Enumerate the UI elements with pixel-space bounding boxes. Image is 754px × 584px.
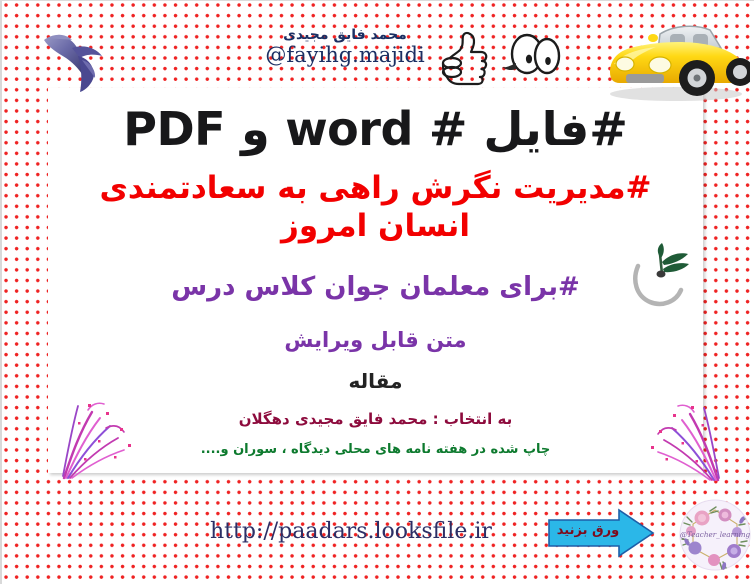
- site-url-link[interactable]: http://paadars.looksfile.ir: [210, 519, 492, 544]
- credit-line: به انتخاب : محمد فایق مجیدی دهگلان: [48, 410, 703, 428]
- author-name-fa: محمد فایق مجیدی: [250, 28, 440, 43]
- right-arrow-icon: [547, 508, 655, 558]
- content-card: #فایل # word و PDF #مدیریت نگرش راهی به …: [48, 88, 703, 473]
- thumbs-up-icon: [440, 27, 490, 87]
- flying-bird-icon: [38, 18, 116, 92]
- author-handle-block: محمد فایق مجیدی @fayihg.majidi: [250, 28, 440, 66]
- olive-branch-icon: [628, 240, 700, 312]
- cartoon-eyes-icon: [500, 33, 562, 79]
- floral-circle-logo: @Teacher_learning: [678, 498, 752, 572]
- yellow-convertible-car-icon: [600, 8, 750, 104]
- editable-text-note: متن قابل ویرایش: [48, 328, 703, 352]
- author-handle: @fayihg.majidi: [250, 44, 440, 66]
- page-title: #فایل # word و PDF: [48, 102, 703, 156]
- next-page-button[interactable]: ورق بزنید: [547, 508, 655, 558]
- audience-subheading: #برای معلمان جوان کلاس درس: [48, 272, 703, 302]
- article-heading: #مدیریت نگرش راهی به سعادتمندی انسان امر…: [62, 170, 689, 246]
- logo-text-svg: @Teacher_learning: [680, 530, 751, 539]
- firework-sparkle-icon: [58, 398, 140, 482]
- firework-sparkle-icon: [642, 400, 724, 484]
- slide-background: محمد فایق مجیدی @fayihg.majidi #فایل # w…: [0, 0, 754, 584]
- publication-note: چاپ شده در هفته نامه های محلی دیدگاه ، س…: [48, 442, 703, 457]
- document-type-label: مقاله: [48, 369, 703, 393]
